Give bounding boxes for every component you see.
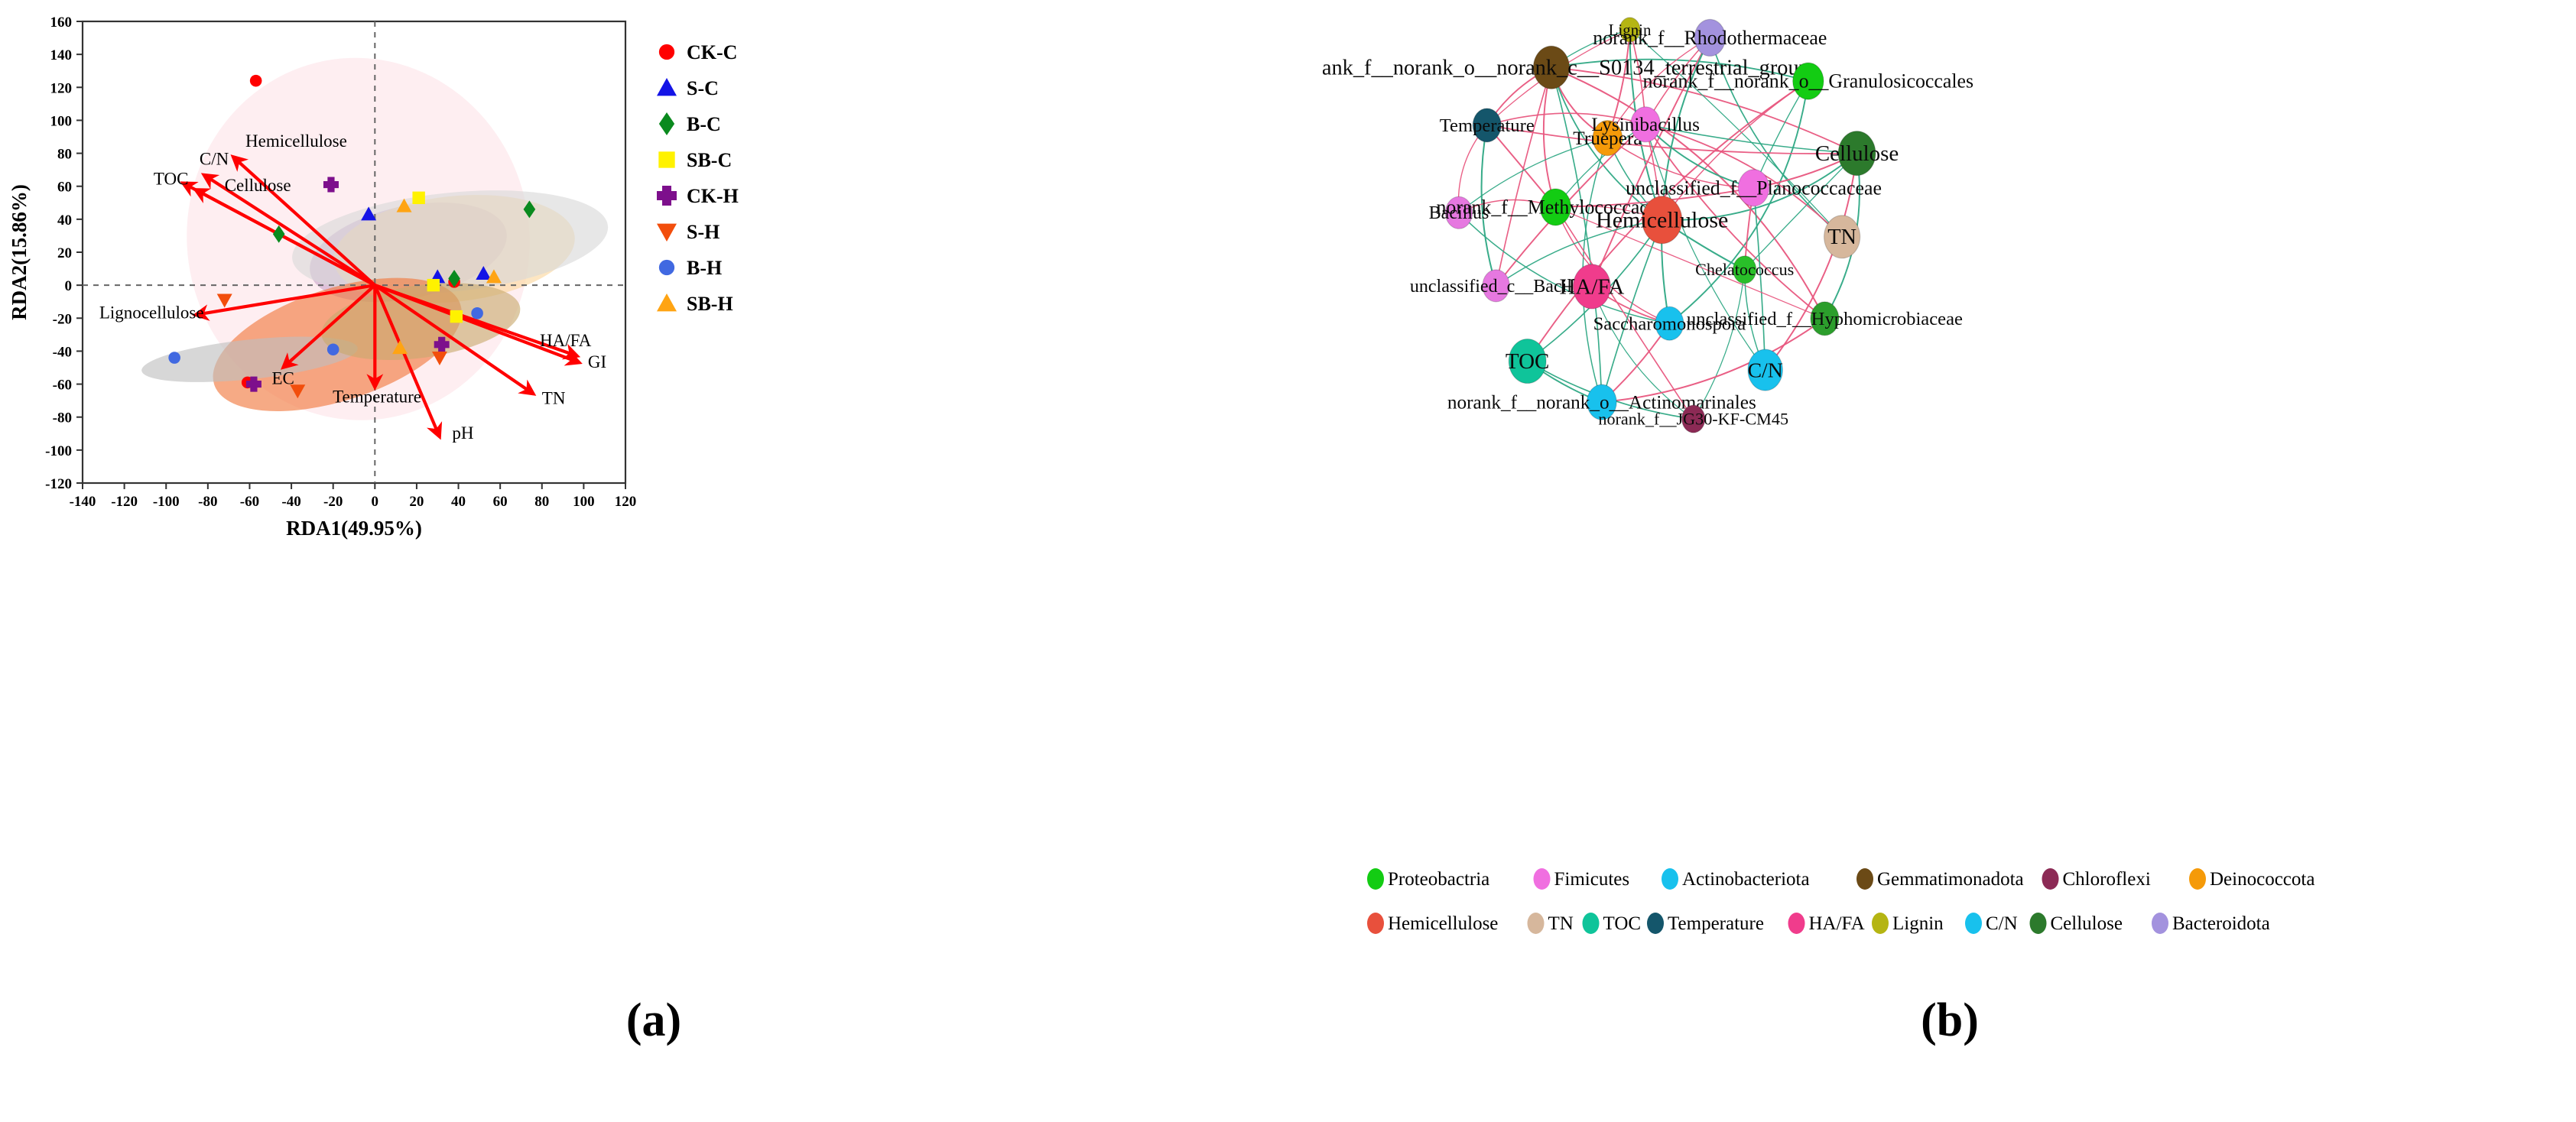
node-label: Hemicellulose xyxy=(1596,208,1728,233)
legend-swatch xyxy=(2042,868,2059,890)
legend-swatch xyxy=(1856,868,1873,890)
legend-item-S-C[interactable]: S-C xyxy=(657,77,719,99)
node-C/N[interactable]: C/N xyxy=(1748,349,1783,391)
data-point xyxy=(471,307,483,319)
vector-label: Temperature xyxy=(333,387,421,406)
data-point xyxy=(657,224,677,242)
figure-root: -140-120-100-80-60-40-20020406080100120-… xyxy=(0,0,2576,1122)
node-label: norank_f__JG30-KF-CM45 xyxy=(1598,409,1788,428)
legend-label: CK-H xyxy=(687,185,739,207)
node-unclassified_c__Bacilli[interactable]: unclassified_c__Bacilli xyxy=(1410,270,1583,302)
legend-label: Gemmatimonadota xyxy=(1877,869,2024,890)
legend-swatch xyxy=(1965,913,1982,934)
legend-item-CK-H[interactable]: CK-H xyxy=(657,185,739,207)
node-Temperature[interactable]: Temperature xyxy=(1440,109,1535,142)
node-label: TOC xyxy=(1506,349,1549,374)
node-label: Cellulose xyxy=(1815,141,1899,166)
legend-label: Hemicellulose xyxy=(1388,913,1498,934)
legend-item-B-C[interactable]: B-C xyxy=(659,112,721,135)
legend-label: B-H xyxy=(687,257,722,279)
node-label: HA/FA xyxy=(1559,274,1624,299)
node-norank_f__JG30-KF-CM45[interactable]: norank_f__JG30-KF-CM45 xyxy=(1598,405,1788,433)
data-point xyxy=(657,78,677,96)
rda-scatter-svg: -140-120-100-80-60-40-20020406080100120-… xyxy=(0,0,1323,1122)
legend-label: S-H xyxy=(687,221,720,243)
node-label: Lysinibacillus xyxy=(1591,114,1700,135)
x-tick-label: -100 xyxy=(153,494,180,510)
y-tick-label: 160 xyxy=(50,15,73,31)
node-label: Temperature xyxy=(1440,115,1535,136)
panel-b-network: norank_f__norank_o__norank_c__S0134_terr… xyxy=(1323,0,2576,1122)
y-tick-label: 40 xyxy=(57,212,72,229)
legend-label: TOC xyxy=(1603,913,1642,934)
node-TN[interactable]: TN xyxy=(1824,216,1860,258)
vector-label: TN xyxy=(542,388,566,407)
legend-swatch xyxy=(1583,913,1600,934)
network-edge xyxy=(1496,67,1551,286)
node-Cellulose[interactable]: Cellulose xyxy=(1815,131,1899,176)
vector-label: Hemicellulose xyxy=(245,131,347,151)
legend-item-TOC[interactable]: TOC xyxy=(1583,913,1642,934)
y-tick-label: -120 xyxy=(45,476,72,492)
data-point xyxy=(657,186,677,206)
y-tick-label: 120 xyxy=(50,80,73,96)
panel-a-caption: (a) xyxy=(626,994,681,1048)
vector-label: pH xyxy=(452,423,473,443)
legend-item-Deinococcota[interactable]: Deinococcota xyxy=(2189,868,2315,890)
y-tick-label: 140 xyxy=(50,47,73,63)
legend-item-Bacteroidota[interactable]: Bacteroidota xyxy=(2152,913,2270,934)
network-nodes: norank_f__norank_o__norank_c__S0134_terr… xyxy=(1323,18,1973,433)
node-label: norank_f__Rhodothermaceae xyxy=(1593,27,1827,49)
legend-swatch xyxy=(1872,913,1889,934)
legend-swatch xyxy=(1534,868,1551,890)
data-point xyxy=(659,112,674,135)
legend-label: Deinococcota xyxy=(2210,869,2315,890)
x-tick-label: -120 xyxy=(111,494,138,510)
y-tick-label: 0 xyxy=(65,278,73,294)
legend-item-SB-H[interactable]: SB-H xyxy=(657,293,733,315)
legend-item-HA/FA[interactable]: HA/FA xyxy=(1788,913,1865,934)
legend-swatch xyxy=(1788,913,1805,934)
y-tick-label: -100 xyxy=(45,443,72,459)
legend-swatch xyxy=(2152,913,2168,934)
x-tick-label: 0 xyxy=(372,494,379,510)
legend-label: CK-C xyxy=(687,41,737,63)
vector-label: Cellulose xyxy=(225,176,291,195)
node-label: norank_f__norank_o__Granulosicoccales xyxy=(1643,70,1974,92)
legend-swatch xyxy=(1367,868,1384,890)
data-point xyxy=(659,260,674,275)
legend-label: Proteobactria xyxy=(1388,869,1489,890)
x-axis-label: RDA1(49.95%) xyxy=(286,517,422,540)
data-point xyxy=(427,279,440,291)
legend-swatch xyxy=(1367,913,1384,934)
data-point xyxy=(657,293,677,311)
y-tick-label: -80 xyxy=(53,410,72,426)
data-point xyxy=(327,343,339,355)
legend-item-Lignin[interactable]: Lignin xyxy=(1872,913,1944,934)
x-tick-label: 100 xyxy=(573,494,595,510)
network-svg: norank_f__norank_o__norank_c__S0134_terr… xyxy=(1323,0,2576,1122)
node-label: C/N xyxy=(1748,358,1783,382)
panel-a-legend: CK-CS-CB-CSB-CCK-HS-HB-HSB-H xyxy=(657,41,739,315)
vector-label: Lignocellulose xyxy=(99,303,204,322)
legend-swatch xyxy=(1647,913,1664,934)
legend-item-Gemmatimonadota[interactable]: Gemmatimonadota xyxy=(1856,868,2024,890)
legend-item-Cellulose[interactable]: Cellulose xyxy=(2030,913,2123,934)
legend-label: S-C xyxy=(687,77,719,99)
y-tick-label: -60 xyxy=(53,378,72,394)
legend-swatch xyxy=(2189,868,2206,890)
x-tick-label: -20 xyxy=(323,494,343,510)
y-tick-label: -40 xyxy=(53,344,72,360)
legend-label: C/N xyxy=(1986,913,2018,934)
x-tick-label: -80 xyxy=(198,494,217,510)
x-tick-label: 80 xyxy=(534,494,549,510)
legend-item-Proteobactria[interactable]: Proteobactria xyxy=(1367,868,1489,890)
y-tick-label: -20 xyxy=(53,311,72,327)
data-point xyxy=(450,310,463,323)
legend-label: B-C xyxy=(687,113,721,135)
x-tick-label: -60 xyxy=(240,494,259,510)
legend-label: Temperature xyxy=(1668,913,1764,934)
legend-label: Chloroflexi xyxy=(2063,869,2151,890)
data-point xyxy=(168,352,180,364)
legend-item-Fimicutes[interactable]: Fimicutes xyxy=(1534,868,1630,890)
x-tick-label: -140 xyxy=(70,494,96,510)
legend-swatch xyxy=(2030,913,2047,934)
legend-label: SB-H xyxy=(687,293,733,315)
vector-label: TOC xyxy=(154,170,189,189)
x-tick-label: 60 xyxy=(493,494,508,510)
y-axis-label: RDA2(15.86%) xyxy=(8,184,31,320)
y-tick-label: 80 xyxy=(57,147,72,163)
node-label: Chelatococcus xyxy=(1695,260,1794,279)
legend-item-SB-C[interactable]: SB-C xyxy=(658,149,732,171)
legend-item-Hemicellulose[interactable]: Hemicellulose xyxy=(1367,913,1498,934)
x-tick-label: 40 xyxy=(451,494,466,510)
legend-item-Temperature[interactable]: Temperature xyxy=(1647,913,1764,934)
legend-label: SB-C xyxy=(687,149,732,171)
legend-label: TN xyxy=(1548,913,1574,934)
vector-label: GI xyxy=(588,352,606,371)
x-tick-label: -40 xyxy=(281,494,300,510)
x-tick-label: 120 xyxy=(615,494,637,510)
legend-swatch xyxy=(1662,868,1678,890)
legend-label: Lignin xyxy=(1892,913,1944,934)
legend-item-CK-C[interactable]: CK-C xyxy=(659,41,738,63)
legend-label: Bacteroidota xyxy=(2172,913,2270,934)
legend-label: Cellulose xyxy=(2051,913,2123,934)
node-label: unclassified_c__Bacilli xyxy=(1410,277,1583,297)
legend-item-Actinobacteriota[interactable]: Actinobacteriota xyxy=(1662,868,1810,890)
y-tick-label: 60 xyxy=(57,180,72,196)
panel-b-caption: (b) xyxy=(1921,994,1979,1048)
data-point xyxy=(250,75,262,87)
legend-item-C/N[interactable]: C/N xyxy=(1965,913,2018,934)
legend-label: Fimicutes xyxy=(1554,869,1630,890)
vector-label: HA/FA xyxy=(540,331,592,350)
panel-b-legend: ProteobactriaFimicutesActinobacteriotaGe… xyxy=(1367,868,2315,934)
vector-label: C/N xyxy=(200,150,229,169)
panel-a-rda-plot: -140-120-100-80-60-40-20020406080100120-… xyxy=(0,0,1323,1122)
node-label: TN xyxy=(1827,225,1856,249)
legend-item-S-H[interactable]: S-H xyxy=(657,221,720,243)
legend-swatch xyxy=(1528,913,1545,934)
y-tick-label: 20 xyxy=(57,245,72,261)
data-point xyxy=(658,151,674,167)
data-point xyxy=(412,192,424,204)
node-TOC[interactable]: TOC xyxy=(1506,339,1549,384)
legend-item-B-H[interactable]: B-H xyxy=(659,257,722,279)
y-tick-label: 100 xyxy=(50,113,73,129)
legend-label: HA/FA xyxy=(1809,913,1865,934)
legend-label: Actinobacteriota xyxy=(1682,869,1810,890)
data-point xyxy=(659,44,674,60)
x-tick-label: 20 xyxy=(409,494,424,510)
legend-item-Chloroflexi[interactable]: Chloroflexi xyxy=(2042,868,2151,890)
legend-item-TN[interactable]: TN xyxy=(1528,913,1574,934)
node-label: Saccharomonospora xyxy=(1593,313,1746,334)
